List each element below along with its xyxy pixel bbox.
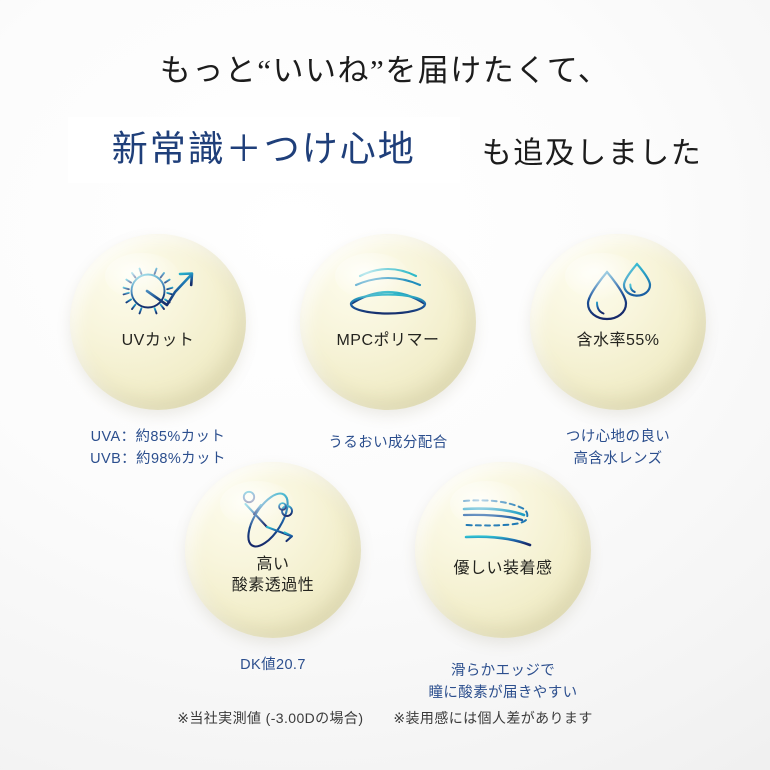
feature-bubble: MPCポリマー	[300, 234, 476, 410]
feature-title: UVカット	[122, 330, 195, 351]
feature-bubble: 含水率55%	[530, 234, 706, 410]
headline-highlight-box: 新常識＋つけ心地	[68, 117, 460, 183]
feature-bubble: 優しい装着感	[415, 462, 591, 638]
feature-uv-cut: UVカット UVA：約85%カットUVB：約98%カット	[58, 234, 258, 470]
feature-bubble: UVカット	[70, 234, 246, 410]
footnotes: ※当社実測値 (-3.00Dの場合) ※装用感には個人差があります	[0, 708, 770, 728]
headline-accent-text: 新常識＋つけ心地	[112, 131, 416, 167]
headline-row-2: 新常識＋つけ心地 も追及しました	[0, 116, 770, 184]
feature-title: MPCポリマー	[336, 330, 439, 351]
feature-title: 含水率55%	[576, 330, 659, 351]
feature-title: 優しい装着感	[453, 558, 552, 579]
feature-title: 高い酸素透過性	[232, 554, 315, 596]
footnote-measurement: ※当社実測値 (-3.00Dの場合)	[177, 708, 363, 728]
feature-smooth-edge: 優しい装着感 滑らかエッジで瞳に酸素が届きやすい	[403, 462, 603, 704]
lens-dome-moisture-icon	[342, 260, 434, 322]
feature-bubble: 高い酸素透過性	[185, 462, 361, 638]
water-droplets-icon	[572, 260, 664, 322]
feature-water-content: 含水率55% つけ心地の良い高含水レンズ	[518, 234, 718, 470]
headline-tail-text: も追及しました	[482, 128, 703, 172]
feature-mpc-polymer: MPCポリマー うるおい成分配合	[288, 234, 488, 454]
oxygen-permeability-icon	[227, 488, 319, 550]
feature-oxygen-permeability: 高い酸素透過性 DK値20.7	[173, 462, 373, 676]
feature-caption: 滑らかエッジで瞳に酸素が届きやすい	[403, 660, 603, 704]
smooth-edge-profile-icon	[456, 488, 550, 550]
feature-caption: DK値20.7	[173, 654, 373, 676]
headline-line-1: もっと“いいね”を届けたくて、	[0, 52, 770, 89]
sun-uv-block-icon	[112, 260, 204, 322]
footnote-individual-difference: ※装用感には個人差があります	[393, 708, 592, 728]
infographic-page: もっと“いいね”を届けたくて、 新常識＋つけ心地 も追及しました	[0, 0, 770, 770]
feature-caption: うるおい成分配合	[288, 432, 488, 454]
